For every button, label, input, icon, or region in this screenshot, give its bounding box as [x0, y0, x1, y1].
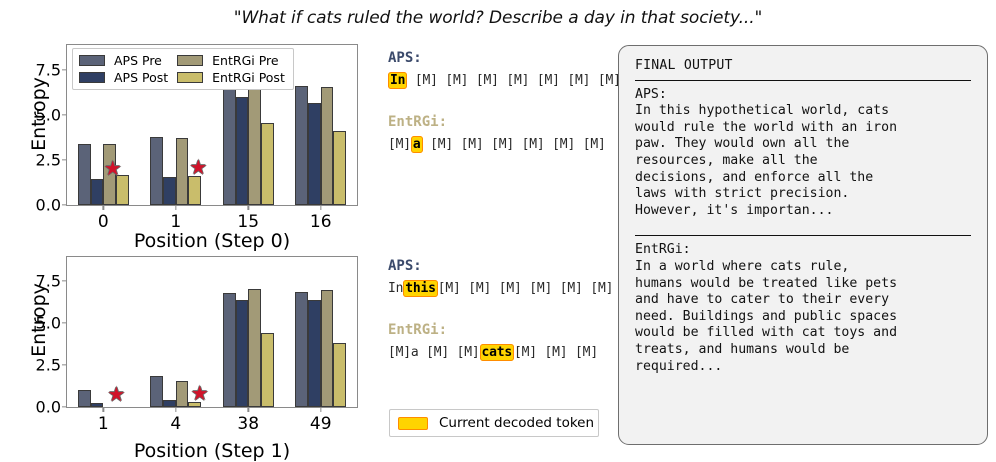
bar-aps-pre-4	[150, 376, 163, 407]
bar-entrgi-post-15	[261, 123, 274, 205]
x-tick-label: 0	[98, 212, 109, 232]
chart2-plot-area: 0.02.55.07.5143849★★	[66, 256, 358, 408]
token-suffix: [M] [M] [M] [M] [M] [M]	[423, 137, 606, 152]
y-tick-label: 2.5	[36, 151, 61, 170]
x-tick-mark	[248, 407, 249, 412]
token-step1-entrgi-heading: EntRGi:	[388, 322, 613, 338]
final-output-entrgi-text: In a world where cats rule, humans would…	[635, 259, 971, 375]
legend-label-aps-post: APS Post	[114, 70, 168, 85]
chart1-x-axis-label: Position (Step 0)	[66, 230, 358, 252]
y-tick-mark	[62, 159, 67, 160]
bar-aps-post-15	[236, 97, 249, 205]
token-step1-aps: APS: Inthis[M] [M] [M] [M] [M] [M]	[388, 258, 613, 296]
current-decoded-token: a	[411, 136, 423, 153]
bar-aps-post-0	[91, 179, 104, 205]
star-marker-icon: ★	[191, 383, 209, 403]
bar-entrgi-post-0	[116, 175, 129, 205]
x-tick-mark	[175, 205, 176, 210]
x-tick-mark	[248, 205, 249, 210]
current-decoded-token: In	[388, 72, 407, 89]
entropy-chart-step0: Entropy 0.02.55.07.5011516★★ Position (S…	[0, 42, 372, 238]
final-output-aps-label: APS:	[635, 87, 971, 104]
final-output-entrgi-label: EntRGi:	[635, 242, 971, 259]
token-step1-aps-sequence: Inthis[M] [M] [M] [M] [M] [M]	[388, 281, 613, 296]
bar-entrgi-pre-16	[321, 87, 334, 205]
current-decoded-token: cats	[480, 344, 515, 361]
current-decoded-token-swatch	[398, 417, 428, 430]
y-tick-label: 0.0	[36, 398, 61, 417]
bar-entrgi-post-16	[333, 131, 346, 205]
y-tick-label: 7.5	[36, 61, 61, 80]
token-step0-aps-heading: APS:	[388, 50, 621, 66]
token-suffix: [M] [M] [M] [M] [M] [M]	[438, 281, 613, 296]
y-tick-mark	[62, 114, 67, 115]
bar-aps-post-1	[163, 177, 176, 205]
y-tick-mark	[62, 322, 67, 323]
x-tick-mark	[103, 205, 104, 210]
bar-aps-post-4	[163, 400, 176, 407]
y-tick-mark	[62, 406, 67, 407]
y-tick-label: 5.0	[36, 106, 61, 125]
token-step1-group: APS: Inthis[M] [M] [M] [M] [M] [M] EntRG…	[388, 258, 613, 366]
y-tick-label: 7.5	[36, 271, 61, 290]
page-title: "What if cats ruled the world? Describe …	[0, 8, 996, 28]
x-tick-mark	[320, 205, 321, 210]
bar-entrgi-post-38	[261, 333, 274, 407]
token-legend-label: Current decoded token	[439, 415, 594, 431]
x-tick-mark	[320, 407, 321, 412]
token-step0-group: APS: In [M] [M] [M] [M] [M] [M] [M] EntR…	[388, 50, 621, 158]
star-marker-icon: ★	[107, 384, 125, 404]
y-tick-mark	[62, 70, 67, 71]
bar-aps-pre-16	[295, 86, 308, 205]
bar-entrgi-post-1	[188, 176, 201, 205]
legend-label-aps-pre: APS Pre	[114, 53, 168, 68]
legend-swatch-entrgi-pre	[177, 55, 203, 66]
y-tick-label: 5.0	[36, 313, 61, 332]
token-legend: Current decoded token	[389, 409, 599, 437]
x-tick-label: 49	[310, 414, 332, 434]
token-step0-entrgi-heading: EntRGi:	[388, 114, 621, 130]
y-tick-label: 0.0	[36, 196, 61, 215]
x-tick-label: 1	[170, 212, 181, 232]
current-decoded-token: this	[403, 280, 438, 297]
bar-aps-post-38	[236, 300, 249, 407]
token-prefix: In	[388, 281, 403, 296]
star-marker-icon: ★	[189, 157, 207, 177]
chart2-x-axis-label: Position (Step 1)	[66, 440, 358, 462]
bar-entrgi-pre-49	[321, 290, 334, 407]
token-step0-aps: APS: In [M] [M] [M] [M] [M] [M] [M]	[388, 50, 621, 88]
bar-aps-pre-49	[295, 292, 308, 407]
bar-entrgi-post-4	[188, 402, 201, 407]
bar-aps-post-49	[308, 300, 321, 407]
x-tick-label: 1	[98, 414, 109, 434]
final-output-spacer	[635, 219, 971, 230]
token-suffix: [M] [M] [M]	[514, 345, 598, 360]
x-tick-label: 38	[237, 414, 259, 434]
legend-swatch-aps-post	[79, 72, 105, 83]
bar-aps-pre-1	[150, 137, 163, 205]
final-output-title: FINAL OUTPUT	[635, 58, 971, 75]
x-tick-mark	[103, 407, 104, 412]
bar-aps-pre-15	[223, 83, 236, 205]
x-tick-label: 4	[170, 414, 181, 434]
bar-aps-pre-38	[223, 293, 236, 407]
token-step0-entrgi-sequence: [M]a [M] [M] [M] [M] [M] [M]	[388, 137, 621, 152]
bar-entrgi-pre-4	[176, 381, 189, 407]
legend-label-entrgi-post: EntRGi Post	[212, 70, 285, 85]
bar-aps-pre-0	[78, 144, 91, 205]
x-tick-label: 16	[310, 212, 332, 232]
token-step1-entrgi-sequence: [M]a [M] [M]cats[M] [M] [M]	[388, 345, 613, 360]
token-step1-entrgi: EntRGi: [M]a [M] [M]cats[M] [M] [M]	[388, 322, 613, 360]
legend-swatch-entrgi-post	[177, 72, 203, 83]
token-prefix: [M]a [M] [M]	[388, 345, 480, 360]
bar-entrgi-pre-0	[103, 144, 116, 205]
y-tick-mark	[62, 364, 67, 365]
y-tick-mark	[62, 280, 67, 281]
entropy-chart-step1: Entropy 0.02.55.07.5143849★★ Position (S…	[0, 250, 372, 450]
final-output-divider-top	[635, 80, 971, 81]
final-output-panel: FINAL OUTPUT APS: In this hypothetical w…	[618, 45, 988, 445]
y-tick-label: 2.5	[36, 355, 61, 374]
chart-legend: APS Pre EntRGi Pre APS Post EntRGi Post	[72, 48, 294, 90]
token-step1-aps-heading: APS:	[388, 258, 613, 274]
final-output-divider-mid	[635, 235, 971, 236]
token-step0-aps-sequence: In [M] [M] [M] [M] [M] [M] [M]	[388, 73, 621, 88]
bar-entrgi-pre-38	[248, 289, 261, 407]
final-output-aps-text: In this hypothetical world, cats would r…	[635, 103, 971, 219]
bar-entrgi-post-49	[333, 343, 346, 407]
bar-entrgi-pre-15	[248, 82, 261, 205]
x-tick-mark	[175, 407, 176, 412]
legend-label-entrgi-pre: EntRGi Pre	[212, 53, 285, 68]
bar-aps-post-16	[308, 103, 321, 205]
token-prefix: [M]	[388, 137, 411, 152]
bar-entrgi-pre-1	[176, 138, 189, 205]
bar-aps-post-1	[91, 403, 104, 407]
token-suffix: [M] [M] [M] [M] [M] [M] [M]	[407, 73, 621, 88]
y-tick-mark	[62, 204, 67, 205]
legend-swatch-aps-pre	[79, 55, 105, 66]
token-step0-entrgi: EntRGi: [M]a [M] [M] [M] [M] [M] [M]	[388, 114, 621, 152]
x-tick-label: 15	[237, 212, 259, 232]
bar-aps-pre-1	[78, 390, 91, 407]
